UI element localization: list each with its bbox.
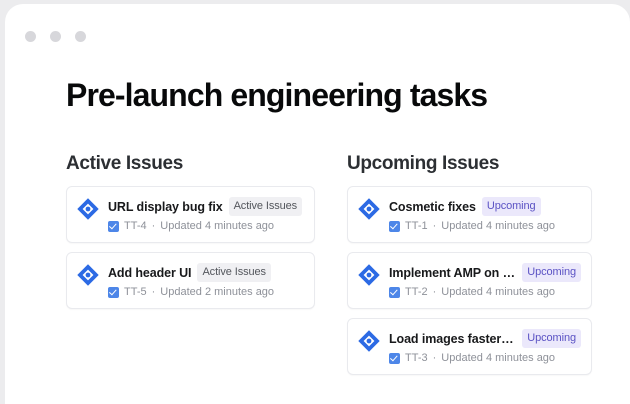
issue-card[interactable]: URL display bug fix Active Issues TT-4 ·…: [66, 186, 315, 243]
jira-diamond-icon: [76, 197, 100, 221]
status-badge: Upcoming: [482, 197, 541, 216]
close-dot[interactable]: [25, 31, 36, 42]
issue-meta: TT-3 · Updated 4 minutes ago: [389, 351, 581, 365]
issue-card[interactable]: Load images faster on de... Upcoming TT-…: [347, 318, 592, 375]
issue-key: TT-2: [405, 285, 428, 299]
meta-separator: ·: [152, 219, 156, 233]
column-title-active: Active Issues: [66, 152, 347, 175]
issue-title: URL display bug fix: [108, 199, 223, 215]
card-list-active: URL display bug fix Active Issues TT-4 ·…: [66, 186, 347, 309]
issue-meta: TT-4 · Updated 4 minutes ago: [108, 219, 304, 233]
issue-card-body: Add header UI Active Issues TT-5 · Updat…: [108, 262, 304, 299]
issue-card-body: Load images faster on de... Upcoming TT-…: [389, 328, 581, 365]
status-badge: Upcoming: [522, 329, 581, 348]
jira-diamond-icon: [357, 197, 381, 221]
column-title-upcoming: Upcoming Issues: [347, 152, 597, 175]
issue-card-body: Implement AMP on mobile... Upcoming TT-2…: [389, 262, 581, 299]
issue-updated: Updated 4 minutes ago: [441, 351, 555, 365]
page-content: Pre-launch engineering tasks Active Issu…: [5, 62, 630, 404]
jira-diamond-icon: [357, 329, 381, 353]
maximize-dot[interactable]: [75, 31, 86, 42]
issue-updated: Updated 4 minutes ago: [441, 219, 555, 233]
checkbox-checked-icon[interactable]: [389, 353, 400, 364]
checkbox-checked-icon[interactable]: [389, 221, 400, 232]
app-window: Pre-launch engineering tasks Active Issu…: [5, 4, 630, 404]
status-badge: Active Issues: [229, 197, 303, 216]
minimize-dot[interactable]: [50, 31, 61, 42]
page-title: Pre-launch engineering tasks: [66, 62, 630, 114]
issue-card-header: Implement AMP on mobile... Upcoming: [389, 263, 581, 282]
meta-separator: ·: [433, 351, 437, 365]
meta-separator: ·: [152, 285, 156, 299]
issue-meta: TT-1 · Updated 4 minutes ago: [389, 219, 581, 233]
card-list-upcoming: Cosmetic fixes Upcoming TT-1 · Updated 4…: [347, 186, 597, 375]
issue-updated: Updated 2 minutes ago: [160, 285, 274, 299]
window-titlebar: [5, 4, 630, 62]
issue-columns: Active Issues URL display bu: [66, 152, 630, 375]
issue-key: TT-4: [124, 219, 147, 233]
issue-card-body: Cosmetic fixes Upcoming TT-1 · Updated 4…: [389, 196, 581, 233]
traffic-light-dots: [25, 31, 86, 42]
meta-separator: ·: [433, 219, 437, 233]
issue-key: TT-5: [124, 285, 147, 299]
checkbox-checked-icon[interactable]: [389, 287, 400, 298]
issue-updated: Updated 4 minutes ago: [160, 219, 274, 233]
issue-title: Implement AMP on mobile...: [389, 265, 516, 281]
column-active-issues: Active Issues URL display bu: [66, 152, 347, 375]
meta-separator: ·: [433, 285, 437, 299]
issue-key: TT-1: [405, 219, 428, 233]
jira-diamond-icon: [76, 263, 100, 287]
issue-card[interactable]: Add header UI Active Issues TT-5 · Updat…: [66, 252, 315, 309]
checkbox-checked-icon[interactable]: [108, 287, 119, 298]
status-badge: Upcoming: [522, 263, 581, 282]
issue-card-header: Cosmetic fixes Upcoming: [389, 197, 581, 216]
issue-card-body: URL display bug fix Active Issues TT-4 ·…: [108, 196, 304, 233]
column-upcoming-issues: Upcoming Issues Cosmetic fix: [347, 152, 597, 375]
issue-card-header: Load images faster on de... Upcoming: [389, 329, 581, 348]
issue-meta: TT-5 · Updated 2 minutes ago: [108, 285, 304, 299]
issue-title: Load images faster on de...: [389, 331, 516, 347]
issue-card[interactable]: Implement AMP on mobile... Upcoming TT-2…: [347, 252, 592, 309]
checkbox-checked-icon[interactable]: [108, 221, 119, 232]
issue-updated: Updated 4 minutes ago: [441, 285, 555, 299]
issue-card-header: URL display bug fix Active Issues: [108, 197, 304, 216]
issue-meta: TT-2 · Updated 4 minutes ago: [389, 285, 581, 299]
issue-title: Add header UI: [108, 265, 191, 281]
status-badge: Active Issues: [197, 263, 271, 282]
issue-key: TT-3: [405, 351, 428, 365]
issue-title: Cosmetic fixes: [389, 199, 476, 215]
jira-diamond-icon: [357, 263, 381, 287]
issue-card-header: Add header UI Active Issues: [108, 263, 304, 282]
issue-card[interactable]: Cosmetic fixes Upcoming TT-1 · Updated 4…: [347, 186, 592, 243]
